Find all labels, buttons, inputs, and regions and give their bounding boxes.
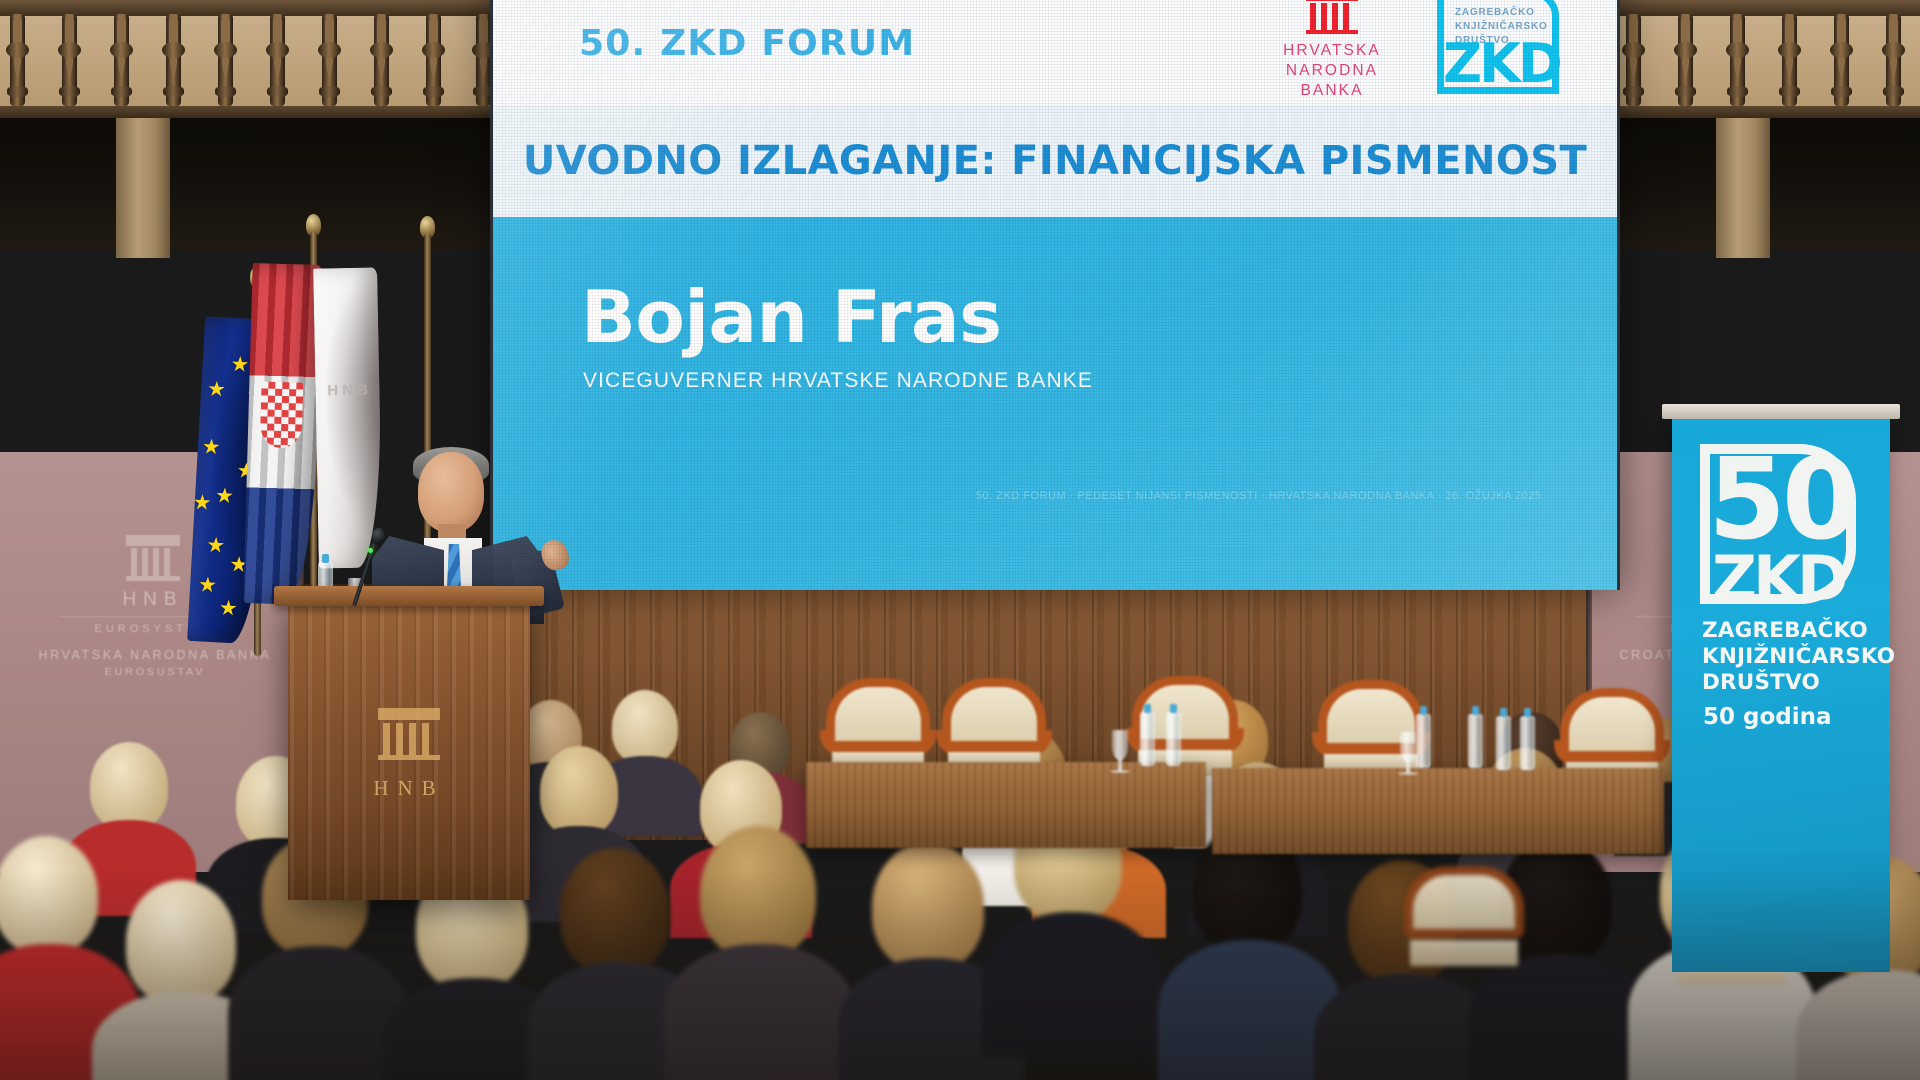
- slide-body: Bojan Fras VICEGUVERNER HRVATSKE NARODNE…: [493, 217, 1617, 590]
- rollup-line-2: KNJIŽNIČARSKO: [1702, 644, 1895, 670]
- slide-speaker-role: VICEGUVERNER HRVATSKE NARODNE BANKE: [583, 369, 1093, 393]
- microphone-led-indicator: [368, 548, 373, 553]
- rollup-numeral: 50: [1708, 452, 1856, 548]
- panel-bottle-5: [1496, 716, 1511, 770]
- rollup-banner: 50 ZKD ZAGREBAČKO KNJIŽNIČARSKO DRUŠTVO …: [1672, 418, 1890, 868]
- lectern-top-ledge: [274, 586, 544, 606]
- slide-header-band: 50. ZKD FORUM HRVATSKA NARODNA BANKA EUR…: [493, 0, 1617, 105]
- slide-title-band: UVODNO IZLAGANJE: FINANCIJSKA PISMENOST: [493, 105, 1617, 217]
- projection-screen: 50. ZKD FORUM HRVATSKA NARODNA BANKA EUR…: [490, 0, 1620, 590]
- conference-photo-scene: HNB EUROSYSTEM HRVATSKA NARODNA BANKA EU…: [0, 0, 1920, 1080]
- pilaster-left: [116, 118, 170, 258]
- slide-footer-credit: 50. ZKD FORUM · PEDESET NIJANSI PISMENOS…: [976, 490, 1545, 502]
- rollup-years: 50 godina: [1703, 704, 1832, 730]
- rollup-line-3: DRUŠTVO: [1702, 670, 1895, 696]
- rollup-banner-lower: [1672, 852, 1890, 972]
- croatia-flag: [243, 263, 322, 605]
- panel-bottle-4: [1468, 714, 1483, 768]
- panel-glass-1: [1112, 730, 1128, 760]
- hnb-fullname-left: HRVATSKA NARODNA BANKA: [30, 648, 280, 662]
- rollup-monogram: ZKD: [1712, 548, 1844, 610]
- microphone-head: [372, 528, 385, 545]
- panel-bottle-1: [1140, 712, 1155, 766]
- panel-table-right: [1212, 768, 1664, 854]
- slide-speaker-name: Bojan Fras: [581, 275, 1001, 359]
- hnb-emblem-icon: [126, 535, 180, 581]
- slide-zkd-logo: ZAGREBAČKO KNJIŽNIČARSKO DRUŠTVO ZKD: [1437, 0, 1559, 94]
- institution-flag-watermark: HNB: [327, 380, 372, 403]
- rollup-wordmark: ZAGREBAČKO KNJIŽNIČARSKO DRUŠTVO: [1702, 618, 1895, 695]
- hnb-emblem-lectern-icon: [378, 708, 440, 760]
- speaker-head: [418, 452, 484, 532]
- panel-table-left: [806, 762, 1206, 848]
- lectern: HNB: [288, 600, 530, 900]
- hnb-line-1: HRVATSKA: [1271, 41, 1393, 61]
- audience-chair-right-1: [1404, 866, 1524, 976]
- panel-bottle-3: [1416, 714, 1431, 768]
- zkd-monogram: ZKD: [1443, 32, 1560, 95]
- hnb-columns-icon: [1306, 0, 1358, 34]
- panel-glass-2: [1400, 732, 1416, 762]
- balustrade-left: [0, 0, 500, 120]
- rollup-50-zkd-mark: 50 ZKD: [1700, 444, 1856, 604]
- wall-fullname-left: HRVATSKA NARODNA BANKA EUROSUSTAV: [30, 648, 280, 678]
- slide-title: UVODNO IZLAGANJE: FINANCIJSKA PISMENOST: [523, 138, 1587, 184]
- lectern-label: HNB: [288, 776, 530, 801]
- croatian-coat-of-arms: [260, 381, 304, 448]
- rollup-top-bar: [1662, 404, 1900, 419]
- hnb-line-2: NARODNA: [1271, 61, 1393, 81]
- pilaster-right: [1716, 118, 1770, 258]
- zkd-line-1: ZAGREBAČKO: [1455, 6, 1548, 20]
- rollup-line-1: ZAGREBAČKO: [1702, 618, 1895, 644]
- hnb-line-3: BANKA: [1271, 81, 1393, 101]
- hnb-fullsub-left: EUROSUSTAV: [30, 666, 280, 678]
- slide-kicker: 50. ZKD FORUM: [579, 23, 915, 64]
- panel-bottle-2: [1166, 712, 1181, 766]
- panel-bottle-6: [1520, 716, 1535, 770]
